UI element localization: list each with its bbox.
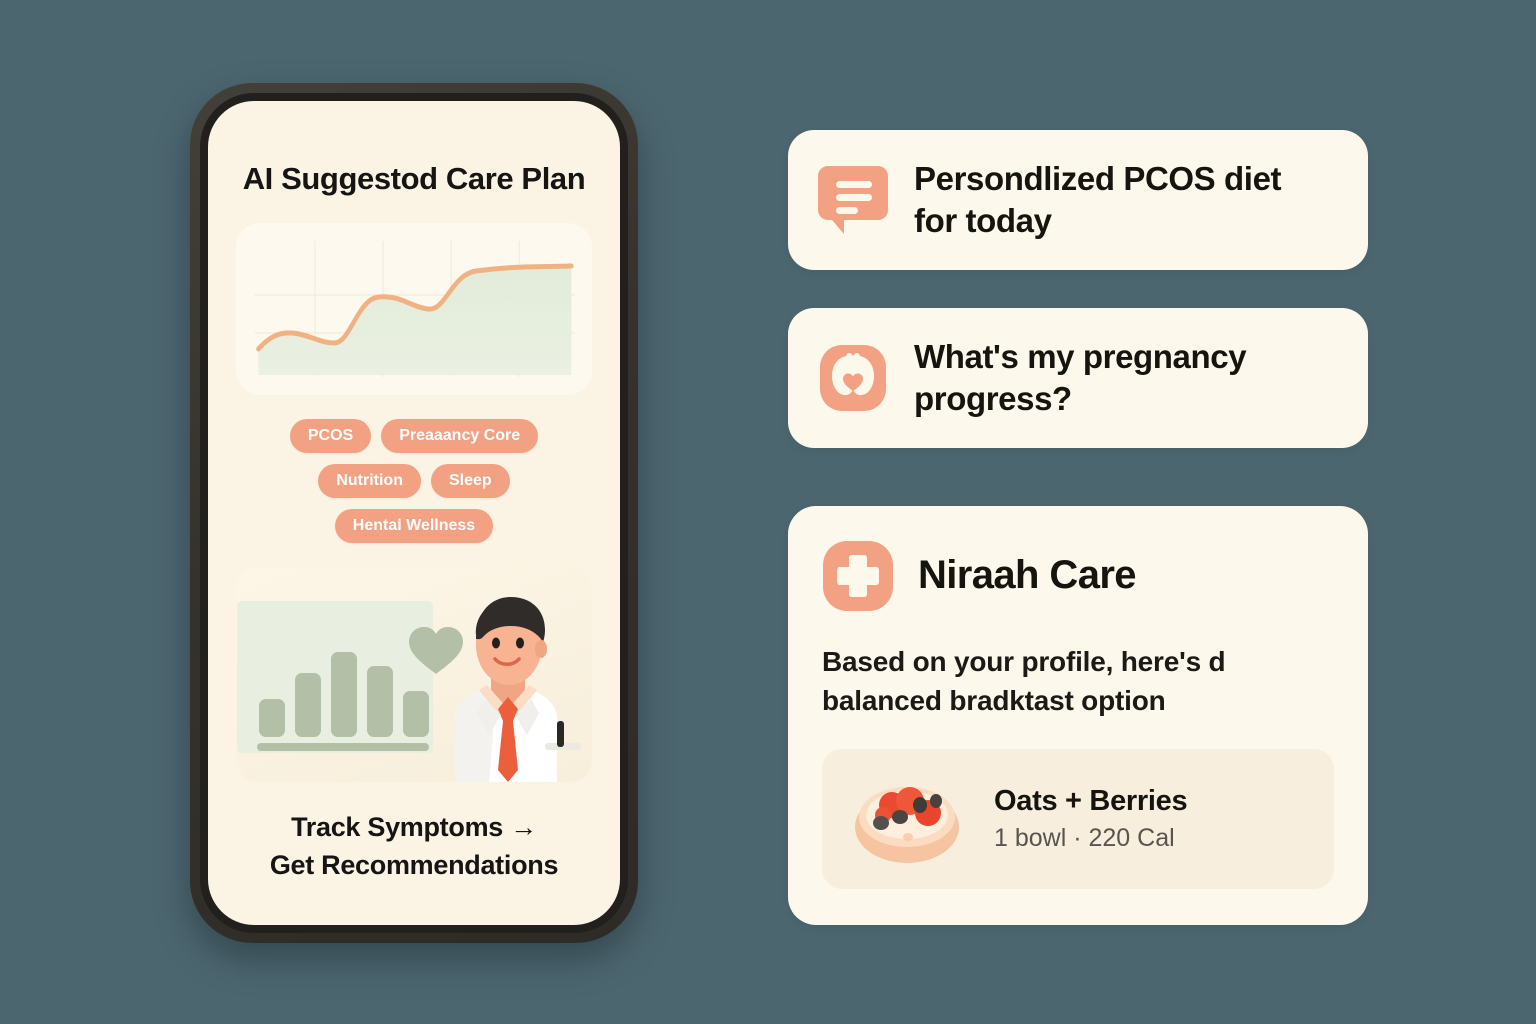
- doctor-avatar: [455, 597, 581, 782]
- page-title: AI Suggestod Care Plan: [236, 161, 592, 197]
- plus-icon: [822, 540, 894, 612]
- phone-bezel: AI Suggestod Care Plan: [190, 83, 638, 943]
- cta-line-1: Track Symptoms →: [236, 808, 592, 846]
- suggestion-label: Persondlized PCOS diet for today: [914, 158, 1281, 242]
- phone-mockup: AI Suggestod Care Plan: [190, 83, 638, 943]
- track-symptoms-cta[interactable]: Track Symptoms → Get Recommendations: [236, 808, 592, 885]
- suggestion-card-pregnancy-progress[interactable]: What's my pregnancy progress?: [788, 308, 1368, 448]
- meal-details: Oats + Berries 1 bowl · 220 Cal: [994, 785, 1187, 853]
- phone-screen: AI Suggestod Care Plan: [208, 101, 620, 925]
- trend-area-chart: [246, 233, 582, 385]
- suggestion-line-2: progress?: [914, 378, 1246, 420]
- care-card-description: Based on your profile, here's d balanced…: [822, 642, 1334, 722]
- suggestion-card-pcos-diet[interactable]: Persondlized PCOS diet for today: [788, 130, 1368, 270]
- chip-pregnancy-core[interactable]: Preaaancy Core: [381, 419, 538, 453]
- category-chip-list: PCOS Preaaancy Core Nutrition Sleep Hent…: [236, 419, 592, 543]
- suggestion-line-1: Persondlized PCOS diet: [914, 158, 1281, 200]
- womb-heart-icon: [818, 340, 888, 416]
- cta-line-2: Get Recommendations: [236, 846, 592, 884]
- chat-bubble-icon: [818, 162, 888, 238]
- doctor-illustration-card: [236, 567, 592, 782]
- meal-meta: 1 bowl · 220 Cal: [994, 824, 1187, 853]
- meal-suggestion-row[interactable]: Oats + Berries 1 bowl · 220 Cal: [822, 749, 1334, 889]
- chip-mental-wellness[interactable]: Hental Wellness: [335, 509, 493, 543]
- niraah-care-card: Niraah Care Based on your profile, here'…: [788, 506, 1368, 926]
- suggestion-label: What's my pregnancy progress?: [914, 336, 1246, 420]
- oats-berries-bowl-icon: [848, 771, 966, 867]
- chip-pcos[interactable]: PCOS: [290, 419, 371, 453]
- care-description-line-2: balanced bradktast option: [822, 681, 1334, 721]
- suggestion-line-2: for today: [914, 200, 1281, 242]
- care-card-title: Niraah Care: [918, 553, 1136, 598]
- suggestions-panel: Persondlized PCOS diet for today What's …: [788, 130, 1368, 925]
- care-card-header: Niraah Care: [822, 540, 1334, 612]
- meal-name: Oats + Berries: [994, 785, 1187, 818]
- care-description-line-1: Based on your profile, here's d: [822, 642, 1334, 682]
- suggestion-line-1: What's my pregnancy: [914, 336, 1246, 378]
- chip-sleep[interactable]: Sleep: [431, 464, 510, 498]
- care-plan-chart-card: [236, 223, 592, 395]
- chip-nutrition[interactable]: Nutrition: [318, 464, 421, 498]
- doctor-with-bar-chart-illustration: [236, 567, 592, 782]
